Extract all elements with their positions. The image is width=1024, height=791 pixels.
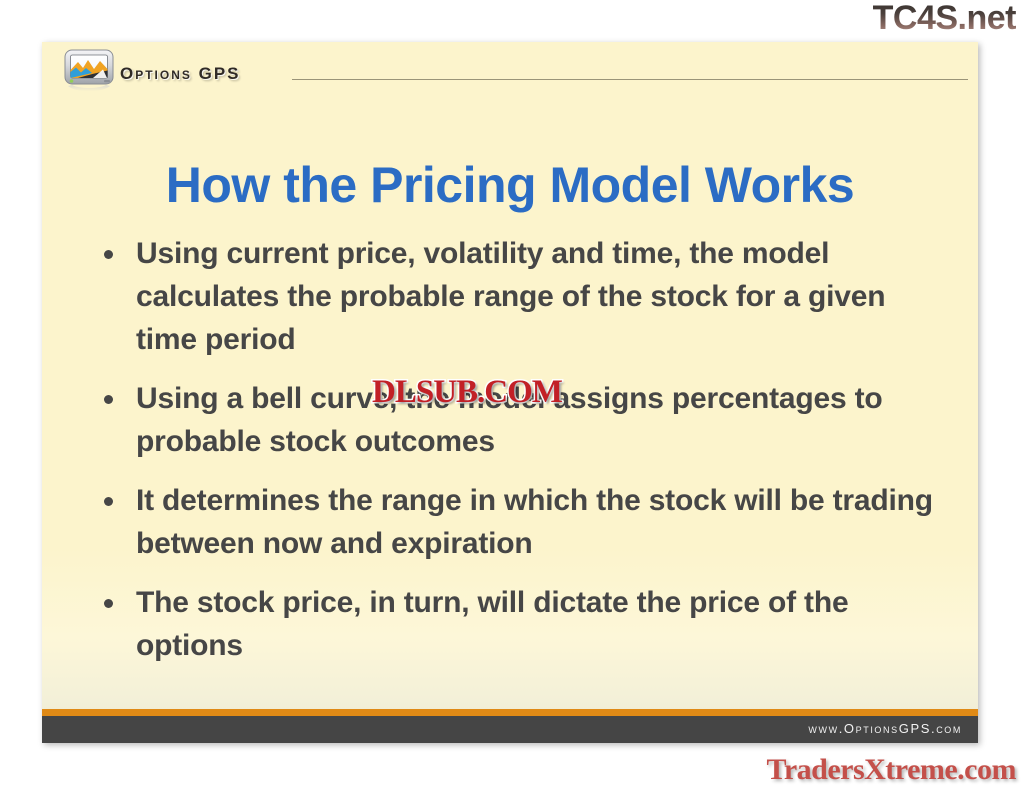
bullet-list: Using current price, volatility and time… [94,232,944,683]
list-item: Using current price, volatility and time… [94,232,944,361]
slide-footer: www.OptionsGPS.com [42,716,978,743]
footer-url: www.OptionsGPS.com [808,721,962,736]
footer-accent-stripe [42,709,978,716]
tc4s-watermark: TC4S.net [873,1,1016,37]
brand-name: Options GPS [120,64,241,84]
list-item: It determines the range in which the sto… [94,479,944,565]
list-item: The stock price, in turn, will dictate t… [94,581,944,667]
gps-device-icon [62,48,118,96]
slide-header: Options GPS [42,42,978,104]
tradersxtreme-watermark: TradersXtreme.com [767,753,1016,787]
page-title: How the Pricing Model Works [42,156,978,214]
header-divider [292,79,968,80]
dlsub-watermark: DLSUB.COM [372,374,562,411]
